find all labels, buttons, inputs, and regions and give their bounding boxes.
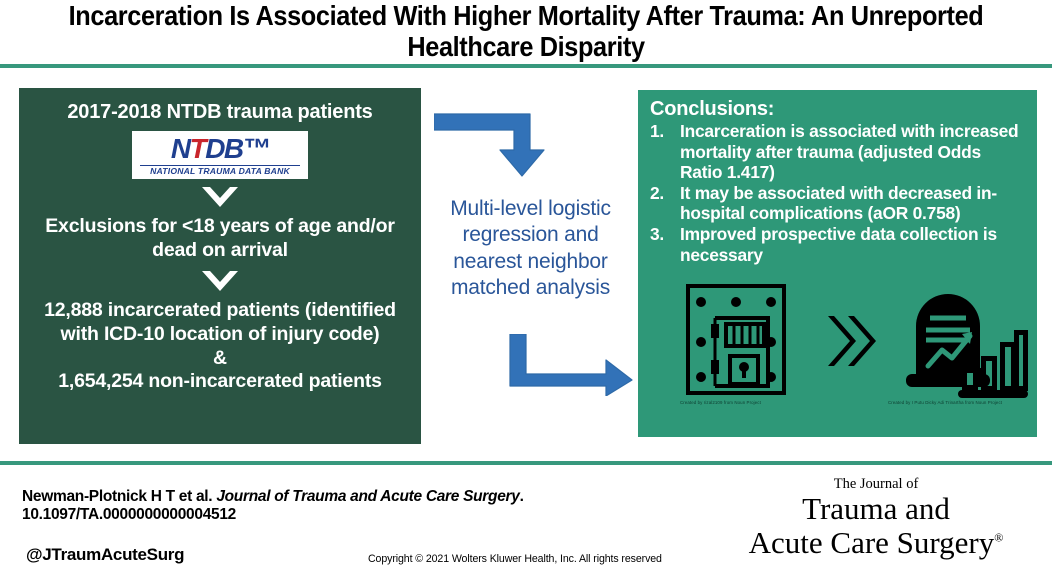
methods-step-1-label: 2017-2018 NTDB trauma patients (67, 100, 372, 124)
methods-step-3-label: 12,888 incarcerated patients (identified… (44, 299, 396, 394)
double-chevron-right-icon (822, 312, 880, 370)
citation-authors: Newman-Plotnick H T et al. (22, 488, 216, 505)
ntdb-letters-db: DB (205, 133, 242, 164)
methods-step-2-label: Exclusions for <18 years of age and/or d… (31, 215, 409, 263)
visual-abstract-title: Incarceration Is Associated With Higher … (0, 0, 1052, 62)
ntdb-trademark-icon: ™ (243, 133, 270, 164)
methods-step-3-line-4: 1,654,254 non-incarcerated patients (44, 370, 396, 394)
conclusion-number-3: 3. (650, 224, 680, 264)
icon-attribution-left: Created by rizal2109 from Noun Project (680, 400, 761, 406)
conclusion-number-1: 1. (650, 121, 680, 182)
conclusions-panel: Conclusions: 1. Incarceration is associa… (638, 90, 1037, 437)
conclusions-list: 1. Incarceration is associated with incr… (650, 121, 1027, 264)
registered-trademark-icon: ® (994, 530, 1003, 544)
copyright-notice: Copyright © 2021 Wolters Kluwer Health, … (368, 553, 662, 565)
conclusion-icons-row: Created by rizal2109 from Noun Project C… (650, 282, 1027, 427)
methods-step-3-line-1: 12,888 incarcerated patients (identified (44, 299, 396, 323)
conclusion-text-1: Incarceration is associated with increas… (680, 121, 1027, 182)
divider-bottom (0, 461, 1052, 465)
conclusions-heading: Conclusions: (650, 98, 1027, 120)
ntdb-subtitle: NATIONAL TRAUMA DATA BANK (132, 166, 308, 176)
citation-journal: Journal of Trauma and Acute Care Surgery (216, 488, 519, 505)
analysis-column: Multi-level logistic regression and near… (428, 96, 633, 426)
conclusion-text-2: It may be associated with decreased in-h… (680, 183, 1027, 223)
chevron-down-icon-1 (202, 187, 238, 207)
page-title: Incarceration Is Associated With Higher … (64, 0, 988, 62)
conclusion-item-2: 2. It may be associated with decreased i… (650, 183, 1027, 223)
journal-logo: The Journal of Trauma and Acute Care Sur… (716, 477, 1036, 559)
methods-flow-panel: 2017-2018 NTDB trauma patients NTDB™ NAT… (19, 88, 421, 444)
ntdb-letter-t: T (190, 133, 206, 164)
divider-top (0, 64, 1052, 68)
methods-step-3-line-2: with ICD-10 location of injury code) (44, 323, 396, 347)
ntdb-wordmark: NTDB™ (132, 133, 308, 164)
mortality-tombstone-chart-icon (902, 282, 1028, 400)
icon-attribution-right: Created by I Putu Dicky Adi Trinartha fr… (888, 400, 1002, 406)
elbow-arrow-down-right-icon (506, 334, 634, 396)
journal-logo-line-3-text: Acute Care Surgery (749, 525, 995, 560)
ntdb-logo: NTDB™ NATIONAL TRAUMA DATA BANK (132, 131, 308, 179)
journal-logo-line-2: Trauma and (716, 492, 1036, 525)
journal-logo-line-3: Acute Care Surgery® (716, 526, 1036, 559)
methods-step-3-line-3: & (44, 347, 396, 371)
twitter-handle[interactable]: @JTraumAcuteSurg (26, 545, 184, 565)
prison-door-icon (682, 282, 790, 397)
conclusion-item-1: 1. Incarceration is associated with incr… (650, 121, 1027, 182)
conclusion-text-3: Improved prospective data collection is … (680, 224, 1027, 264)
conclusion-number-2: 2. (650, 183, 680, 223)
conclusion-item-3: 3. Improved prospective data collection … (650, 224, 1027, 264)
ntdb-letter-n: N (171, 133, 190, 164)
chevron-down-icon-2 (202, 271, 238, 291)
journal-logo-line-1: The Journal of (716, 477, 1036, 492)
elbow-arrow-right-down-icon (434, 110, 558, 178)
analysis-method-label: Multi-level logistic regression and near… (428, 196, 633, 302)
citation: Newman-Plotnick H T et al. Journal of Tr… (22, 488, 542, 525)
